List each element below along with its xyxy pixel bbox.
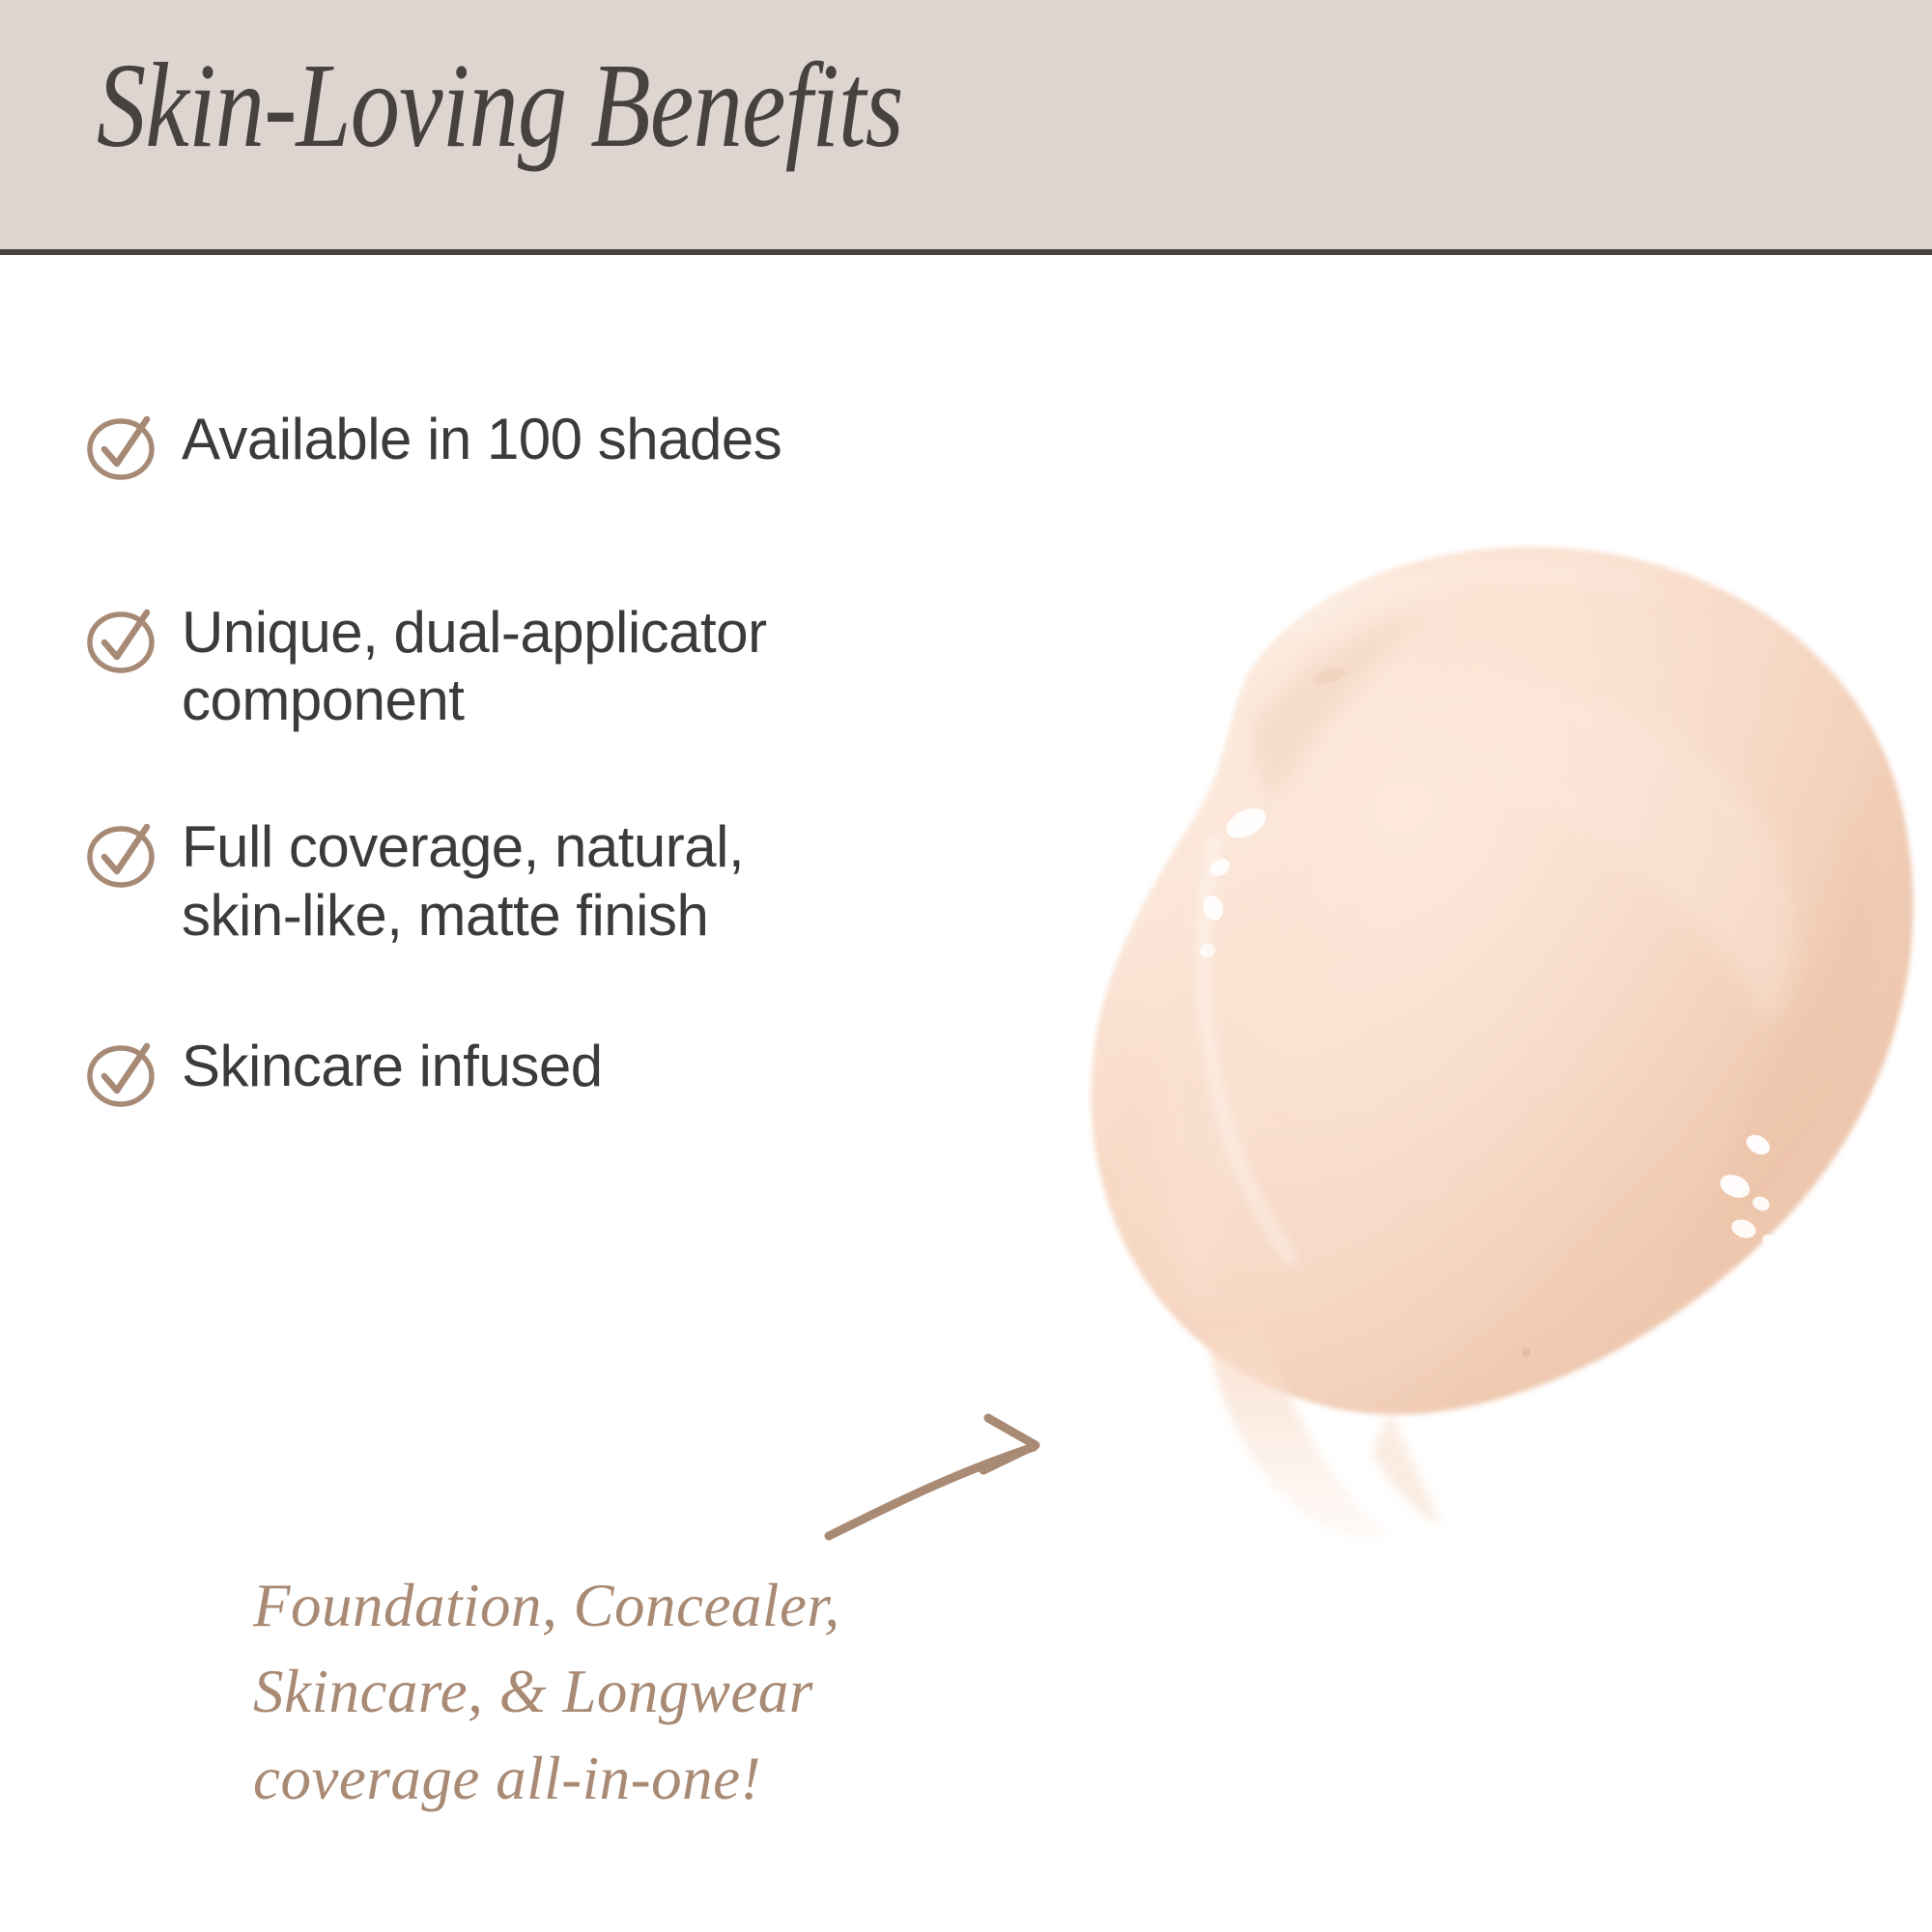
list-item-label: Full coverage, natural, skin-like, matte… — [182, 813, 954, 949]
list-item-label: Unique, dual-applicator component — [182, 599, 954, 734]
foundation-swatch — [792, 386, 1932, 1546]
list-item: Unique, dual-applicator component — [85, 599, 954, 734]
page-title: Skin-Loving Benefits — [97, 46, 903, 167]
check-circle-icon — [85, 603, 160, 678]
list-item: Available in 100 shades — [85, 406, 954, 485]
curved-arrow-icon — [792, 1381, 1140, 1594]
check-circle-icon — [85, 410, 160, 485]
header-divider — [0, 249, 1932, 255]
benefits-list: Available in 100 shades Unique, dual-app… — [85, 406, 954, 1112]
check-circle-icon — [85, 1037, 160, 1112]
list-item: Skincare infused — [85, 1033, 954, 1112]
check-circle-icon — [85, 817, 160, 893]
list-item-label: Available in 100 shades — [182, 406, 954, 473]
list-item-label: Skincare infused — [182, 1033, 954, 1100]
list-item: Full coverage, natural, skin-like, matte… — [85, 813, 954, 949]
callout-caption: Foundation, Concealer, Skincare, & Longw… — [253, 1563, 987, 1822]
